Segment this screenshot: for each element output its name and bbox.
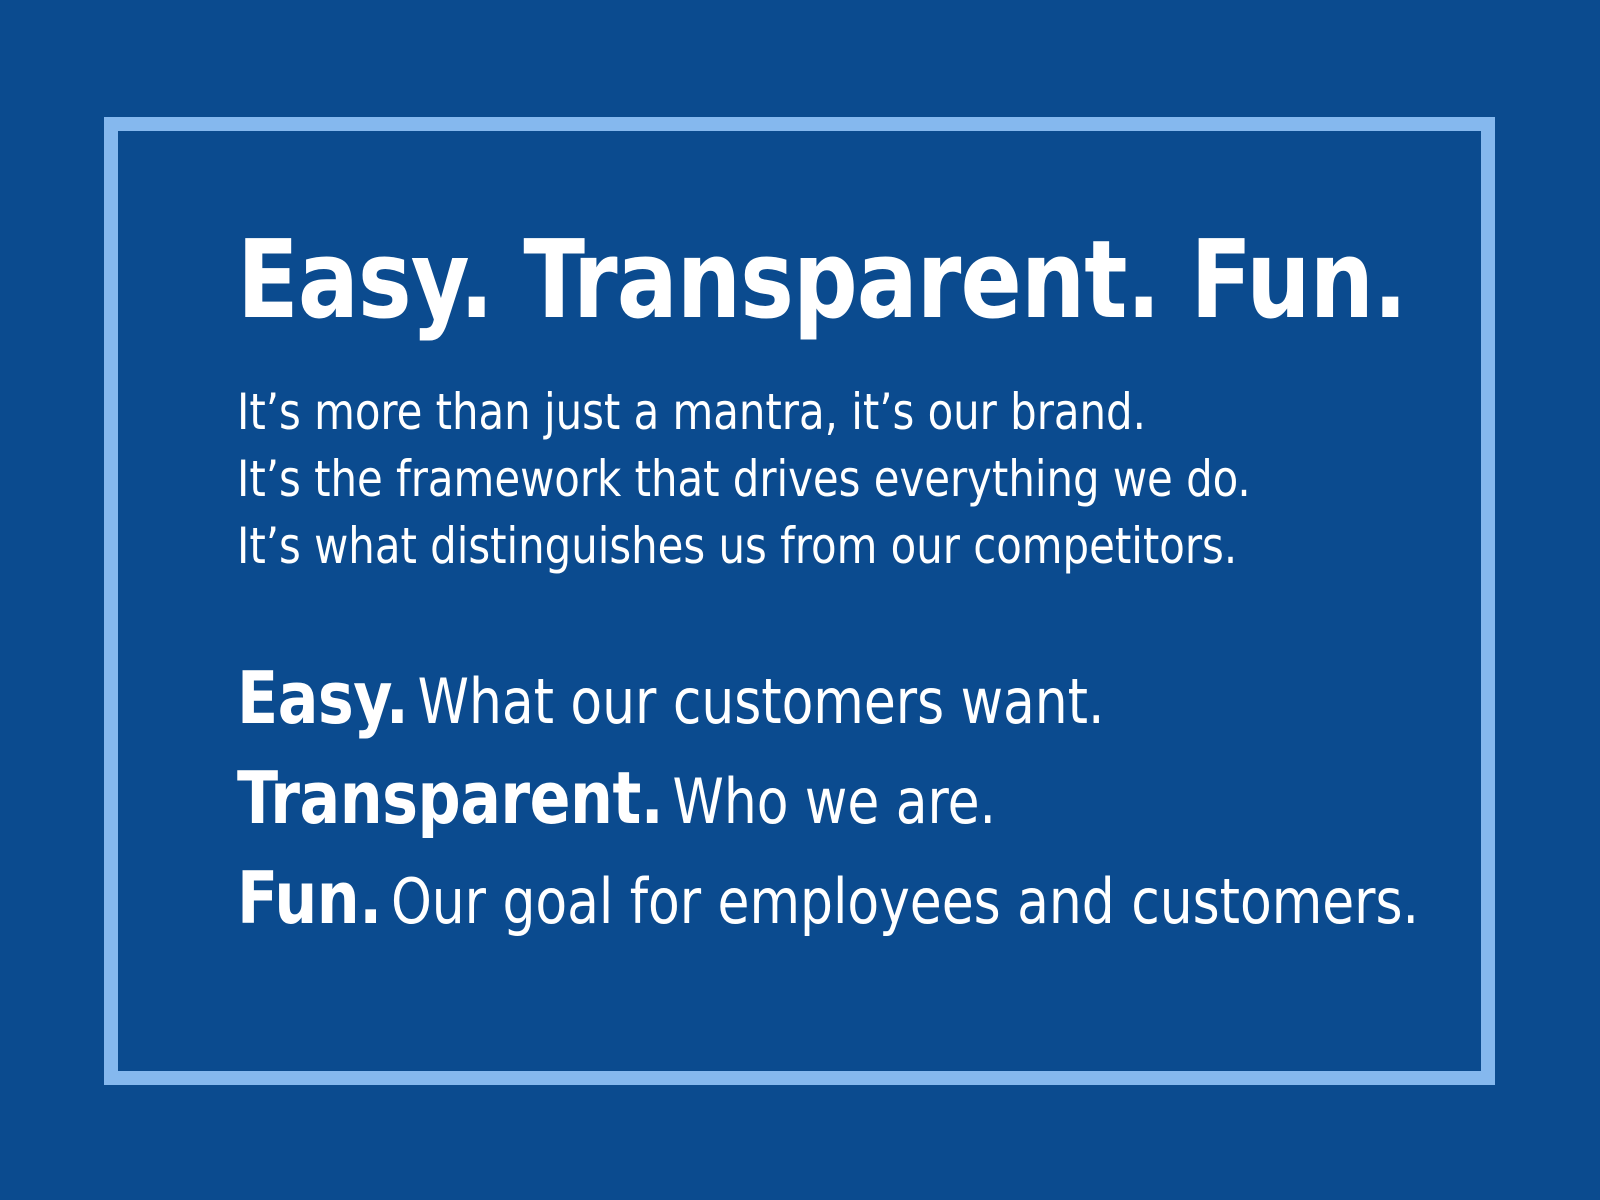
pillar-item-transparent: Transparent.Who we are. <box>237 758 1334 858</box>
content-spacer <box>237 580 1417 658</box>
pillar-key-transparent: Transparent. <box>237 756 663 840</box>
pillar-desc-transparent: Who we are. <box>663 765 996 838</box>
intro-line-3: It’s what distinguishes us from our comp… <box>237 513 1334 580</box>
intro-line-2: It’s the framework that drives everythin… <box>237 446 1334 513</box>
slide-content: Easy. Transparent. Fun. It’s more than j… <box>237 225 1417 958</box>
pillar-item-fun: Fun.Our goal for employees and customers… <box>237 858 1334 958</box>
page-title: Easy. Transparent. Fun. <box>237 225 1334 337</box>
slide-canvas: Easy. Transparent. Fun. It’s more than j… <box>0 0 1600 1200</box>
pillar-item-easy: Easy.What our customers want. <box>237 658 1334 758</box>
pillar-key-fun: Fun. <box>237 856 382 940</box>
pillar-desc-easy: What our customers want. <box>408 665 1104 738</box>
intro-paragraph: It’s more than just a mantra, it’s our b… <box>237 379 1334 580</box>
pillar-list: Easy.What our customers want. Transparen… <box>237 658 1334 958</box>
pillar-desc-fun: Our goal for employees and customers. <box>382 865 1419 938</box>
pillar-key-easy: Easy. <box>237 656 408 740</box>
intro-line-1: It’s more than just a mantra, it’s our b… <box>237 379 1334 446</box>
